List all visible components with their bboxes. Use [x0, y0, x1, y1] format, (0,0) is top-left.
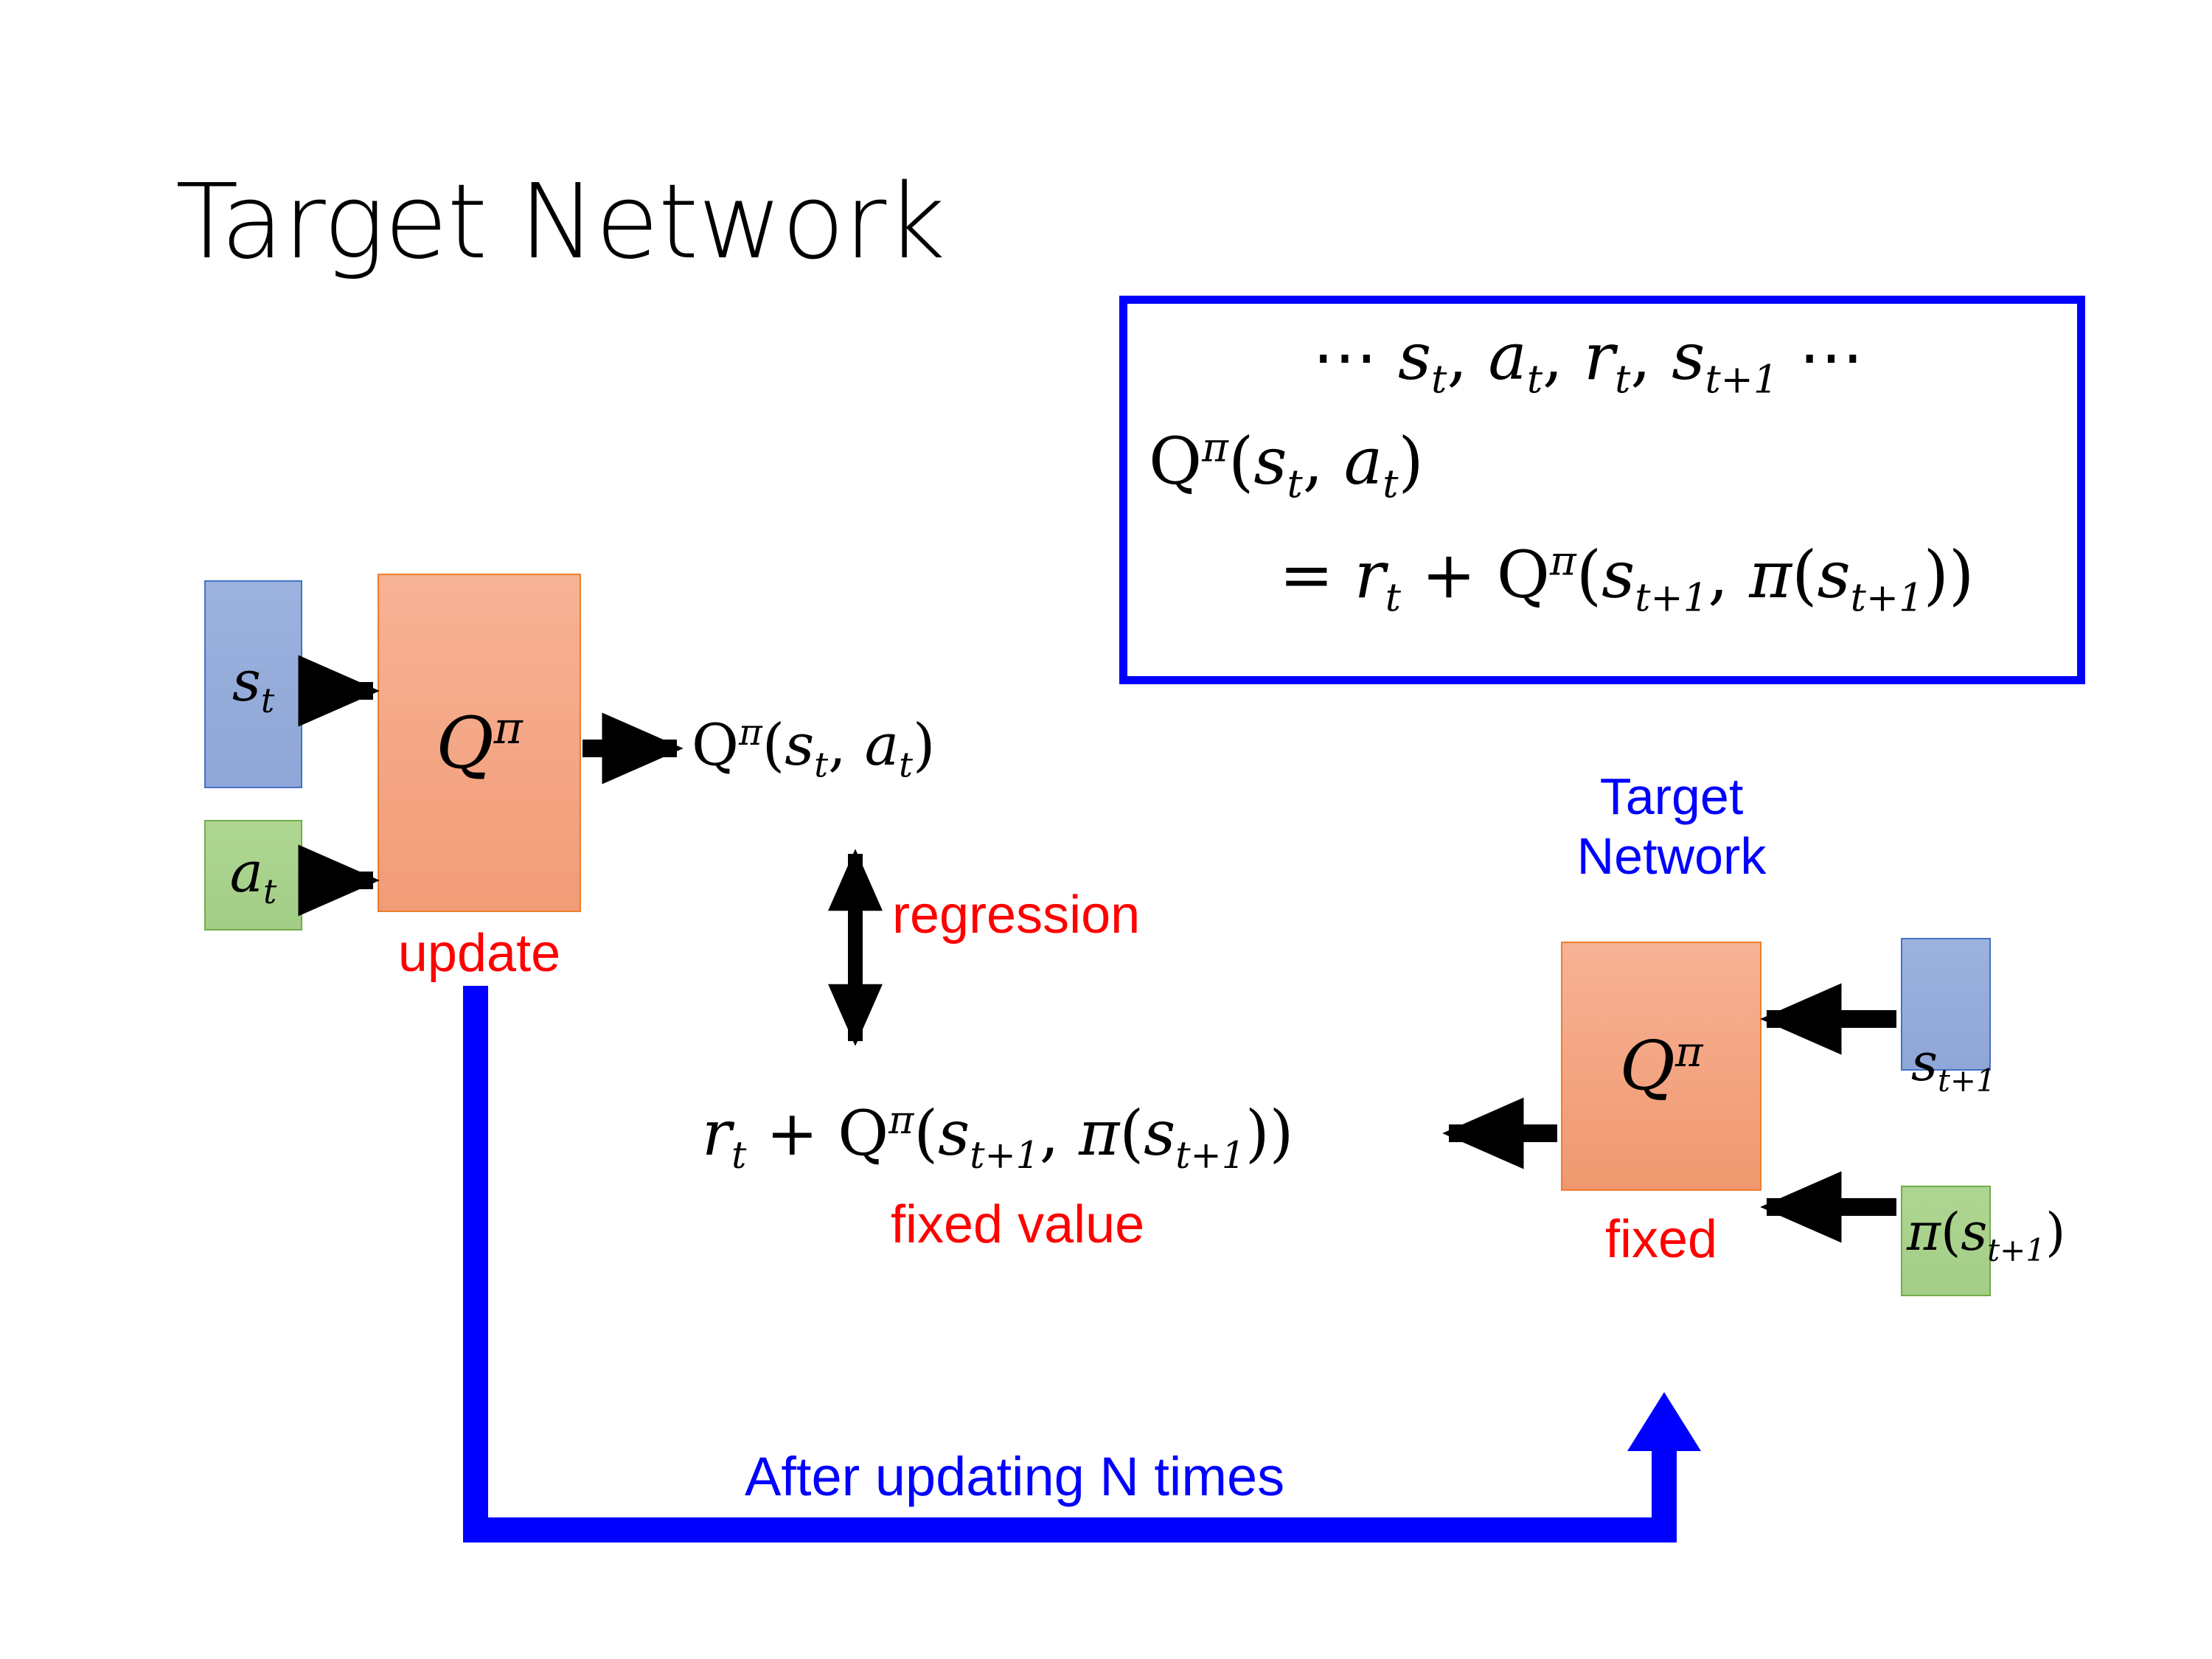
regression-label: regression [892, 885, 1140, 945]
target-network-heading-line1: Target [1561, 767, 1782, 827]
page-title: Target Network [175, 168, 945, 276]
feedback-loop-label: After updating N times [745, 1445, 1284, 1508]
online-q-network-label: Qπ [379, 702, 580, 785]
input-action-label: at [206, 839, 301, 911]
feedback-loop-arrowhead [1627, 1392, 1701, 1451]
input-state-label: st [206, 648, 301, 720]
fixed-value-label: fixed value [891, 1194, 1144, 1255]
equation-q-definition-line: Qπ(st, at) [1149, 423, 1424, 507]
equation-q-target-line: = rt + Qπ(st+1, π(st+1)) [1279, 537, 1974, 621]
fixed-label: fixed [1561, 1209, 1761, 1270]
online-q-network-box: Qπ [378, 574, 581, 912]
slide-canvas: Target Network ⋯ st, at, rt, st+1 ⋯ Qπ(s… [0, 0, 2212, 1659]
online-q-output-expression: Qπ(st, at) [692, 712, 935, 786]
update-label: update [378, 923, 581, 984]
target-q-network-box: Qπ [1561, 942, 1761, 1191]
target-input-state-label: st+1 [1911, 1032, 1996, 1099]
input-action-box: at [204, 820, 302, 931]
target-q-network-label: Qπ [1562, 1027, 1760, 1106]
equation-trajectory-line: ⋯ st, at, rt, st+1 ⋯ [1312, 319, 1863, 403]
target-network-heading: Target Network [1561, 767, 1782, 886]
target-input-policy-label: π(st+1) [1907, 1202, 2065, 1268]
target-value-expression: rt + Qπ(st+1, π(st+1)) [702, 1097, 1293, 1177]
input-state-box: st [204, 580, 302, 788]
target-network-heading-line2: Network [1561, 827, 1782, 886]
